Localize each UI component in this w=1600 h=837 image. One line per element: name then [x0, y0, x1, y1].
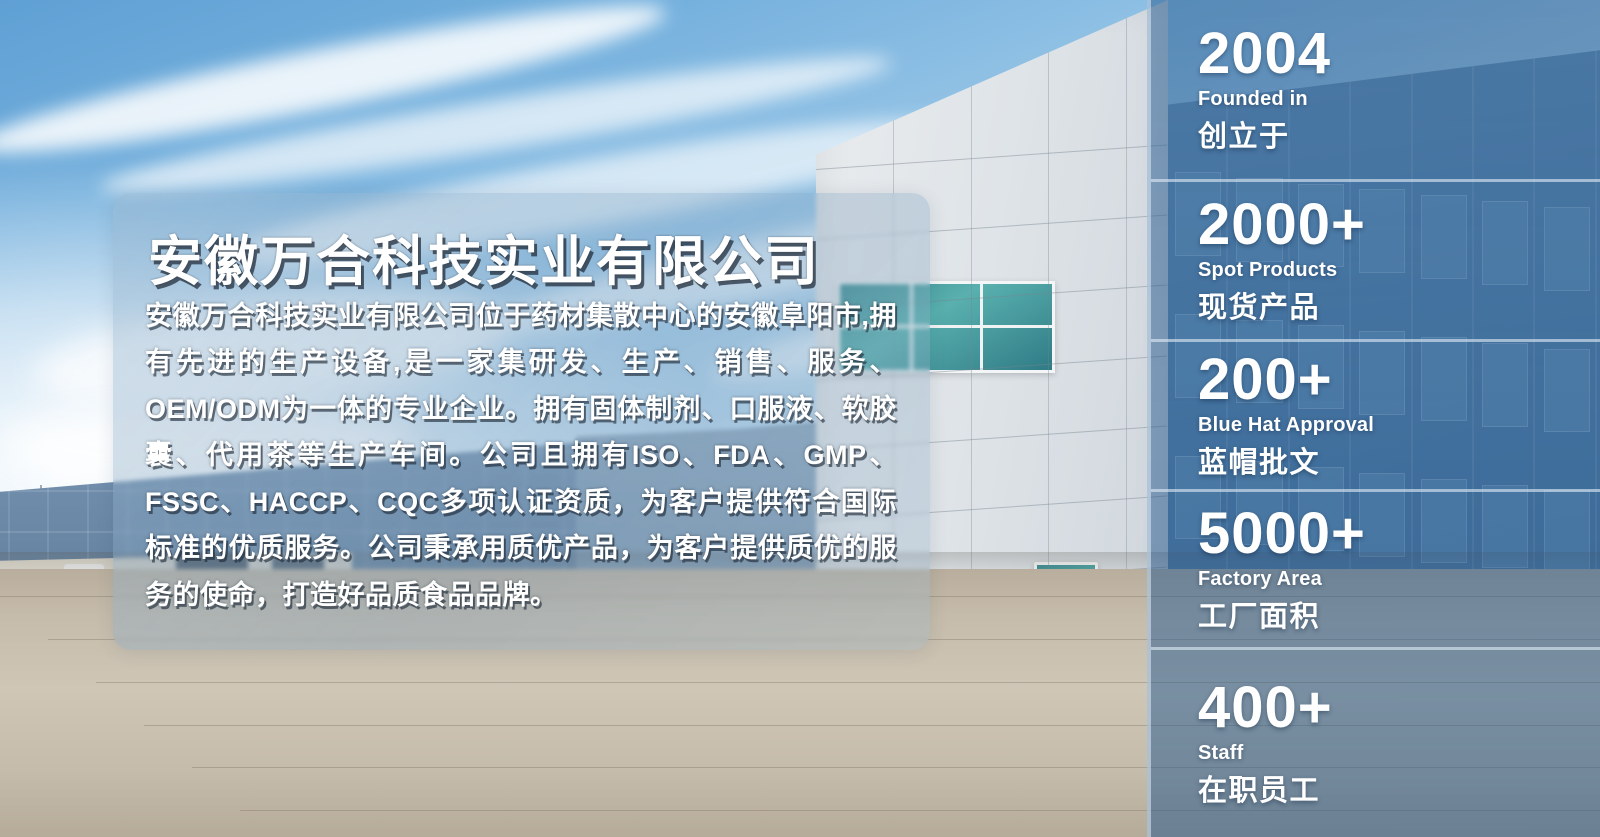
stat-block-3: 200+Blue Hat Approval蓝帽批文 [1151, 342, 1600, 492]
stat-block-5: 400+Staff在职员工 [1151, 650, 1600, 837]
stat-label-cn: 蓝帽批文 [1198, 439, 1600, 481]
stat-block-4: 5000+Factory Area工厂面积 [1151, 492, 1600, 650]
company-info-panel: 安徽万合科技实业有限公司 安徽万合科技实业有限公司位于药材集散中心的安徽阜阳市,… [113, 193, 930, 650]
stat-label-en: Founded in [1198, 88, 1600, 111]
stat-value: 2000+ [1198, 195, 1600, 254]
stat-label-en: Spot Products [1198, 259, 1600, 282]
stat-value: 200+ [1198, 350, 1600, 409]
stat-value: 2004 [1198, 24, 1600, 83]
company-description: 安徽万合科技实业有限公司位于药材集散中心的安徽阜阳市,拥有先进的生产设备,是一家… [145, 293, 897, 618]
company-profile-banner: 安徽万合科技实业有限公司 安徽万合科技实业有限公司位于药材集散中心的安徽阜阳市,… [0, 0, 1600, 837]
stat-label-cn: 创立于 [1198, 113, 1600, 155]
page-title: 安徽万合科技实业有限公司 [148, 217, 820, 296]
stat-label-cn: 工厂面积 [1198, 593, 1600, 635]
stat-label-en: Factory Area [1198, 568, 1600, 591]
stat-label-en: Blue Hat Approval [1198, 414, 1600, 437]
stat-label-en: Staff [1198, 742, 1600, 765]
stat-value: 5000+ [1198, 504, 1600, 563]
stat-label-cn: 在职员工 [1198, 767, 1600, 809]
stat-block-1: 2004Founded in创立于 [1151, 0, 1600, 182]
statistics-sidebar: 2004Founded in创立于2000+Spot Products现货产品2… [1147, 0, 1600, 837]
stat-block-2: 2000+Spot Products现货产品 [1151, 182, 1600, 342]
stat-value: 400+ [1198, 678, 1600, 737]
stat-label-cn: 现货产品 [1198, 284, 1600, 326]
